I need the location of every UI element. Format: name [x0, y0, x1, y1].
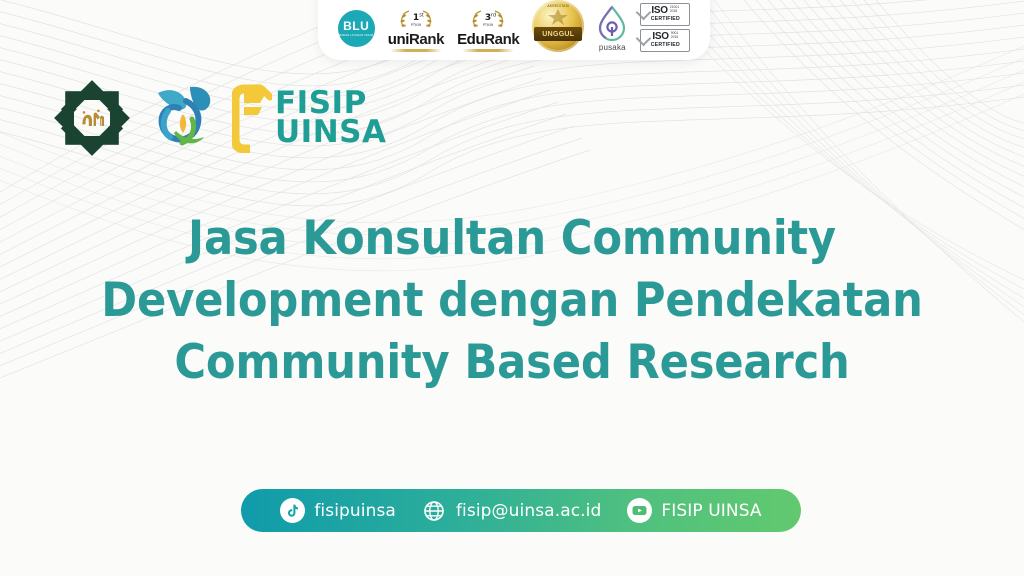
contact-item-youtube[interactable]: FISIP UINSA — [627, 498, 761, 523]
fisip-uinsa-wordmark: FISIP UINSA — [232, 83, 386, 153]
tiktok-icon[interactable] — [280, 498, 305, 523]
svg-text:1: 1 — [413, 13, 419, 23]
edurank-wreath-logo: 3 rd PTKIN — [465, 8, 511, 31]
unggul-ribbon-text: UNGGUL — [542, 31, 574, 38]
headline-line-2: Development dengan Pendekatan — [41, 270, 983, 332]
edurank-wordmark: EduRank — [457, 32, 519, 47]
youtube-icon[interactable] — [627, 498, 652, 523]
svg-text:PTKIN: PTKIN — [483, 23, 494, 27]
badge-iso-stack: ISO 21001 2018 CERTIFIED ISO 9001 — [640, 0, 690, 52]
contact-item-website[interactable]: fisip@uinsa.ac.id — [422, 498, 601, 523]
unirank-underline — [390, 49, 442, 52]
fisip-leaf-mark — [146, 81, 218, 155]
blu-label: BLU — [343, 20, 369, 32]
iso-word: ISO — [652, 32, 668, 42]
svg-text:PTKIN: PTKIN — [411, 23, 422, 27]
unirank-wreath-logo: 1 st PTKIN — [393, 8, 439, 31]
contact-label-tiktok: fisipuinsa — [314, 501, 396, 521]
fisip-bracket-icon — [232, 83, 272, 153]
badge-blu: BLU BADAN LAYANAN UMUM — [338, 0, 375, 52]
page-title: Jasa Konsultan Community Development den… — [41, 208, 983, 394]
pusaka-label: pusaka — [599, 43, 626, 52]
blu-circle-logo: BLU BADAN LAYANAN UMUM — [338, 10, 375, 47]
iso-word: ISO — [651, 6, 667, 16]
iso-certified-badge-9001: ISO 9001 2015 CERTIFIED — [640, 29, 690, 52]
accreditation-badge-card: BLU BADAN LAYANAN UMUM — [318, 0, 710, 60]
contact-bar: fisipuinsa fisip@uinsa.ac.id FISIP UINSA — [241, 489, 801, 532]
iso-check-mark-icon — [636, 5, 652, 21]
contact-item-tiktok[interactable]: fisipuinsa — [280, 498, 396, 523]
headline-line-1: Jasa Konsultan Community — [41, 208, 983, 270]
uinsa-octagon-logo — [52, 78, 132, 158]
iso-standard-line2: 2015 — [671, 36, 679, 40]
badge-unggul: AKREDITASI UNGGUL — [532, 0, 584, 52]
headline-line-3: Community Based Research — [41, 332, 983, 394]
globe-icon[interactable] — [422, 498, 447, 523]
badge-unirank: 1 st PTKIN uniRank — [388, 0, 444, 52]
iso-certified-label: CERTIFIED — [651, 17, 680, 22]
contact-label-youtube: FISIP UINSA — [661, 501, 761, 521]
pusaka-droplet-logo — [597, 5, 627, 41]
unggul-ribbon: UNGGUL — [534, 27, 582, 41]
institution-logo-row: FISIP UINSA — [52, 78, 386, 158]
iso-check-mark-icon — [636, 31, 652, 47]
iso-standard-line2: 2018 — [670, 10, 679, 14]
unggul-gold-seal: AKREDITASI UNGGUL — [532, 0, 584, 52]
svg-text:rd: rd — [491, 13, 496, 19]
edurank-underline — [462, 49, 514, 52]
iso-certified-label: CERTIFIED — [651, 43, 680, 48]
edurank-name-part1: Edu — [457, 31, 484, 48]
badge-edurank: 3 rd PTKIN EduRank — [457, 0, 519, 52]
poster-canvas: BLU BADAN LAYANAN UMUM — [0, 0, 1024, 576]
edurank-name-part2: Rank — [484, 31, 519, 48]
svg-text:st: st — [419, 13, 424, 19]
unirank-wordmark: uniRank — [388, 32, 444, 47]
unirank-name-part1: uni — [388, 31, 409, 48]
iso-certified-badge-21001: ISO 21001 2018 CERTIFIED — [640, 3, 690, 26]
unirank-name-part2: Rank — [409, 31, 444, 48]
blu-sublabel: BADAN LAYANAN UMUM — [339, 34, 373, 37]
fisip-wordmark-line2: UINSA — [275, 118, 386, 147]
contact-label-website: fisip@uinsa.ac.id — [456, 501, 601, 521]
badge-pusaka: pusaka — [597, 0, 627, 52]
